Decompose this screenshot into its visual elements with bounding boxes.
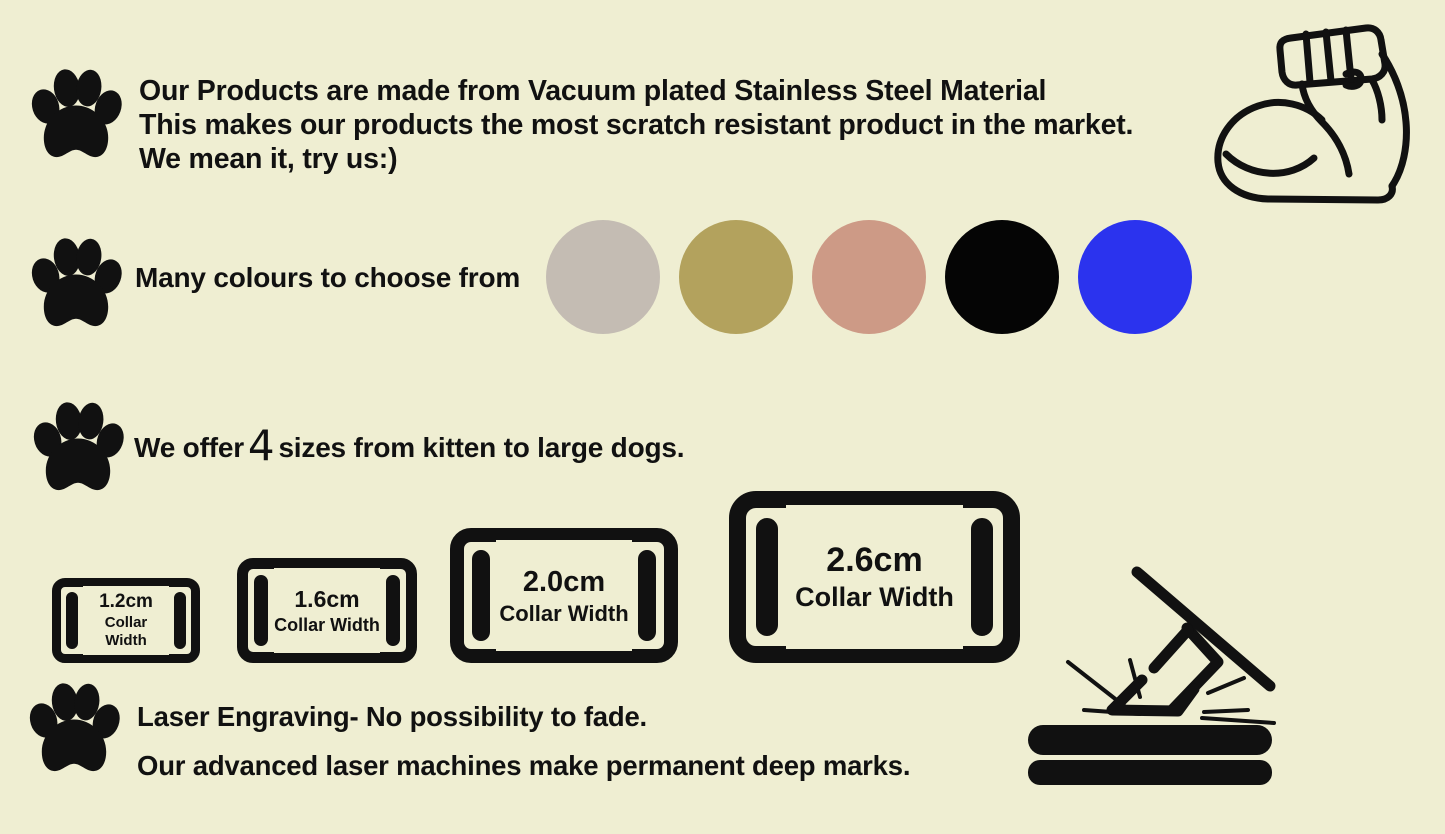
laser-engraver-icon bbox=[1012, 562, 1302, 797]
collar-size-1-value: 1.2cm bbox=[99, 590, 153, 614]
paw-print-icon bbox=[32, 395, 124, 495]
sizes-heading: We offer 4 sizes from kitten to large do… bbox=[134, 426, 684, 464]
collar-size-3-caption: Collar Width bbox=[499, 600, 628, 628]
material-line-3: We mean it, try us:) bbox=[139, 142, 1133, 176]
product-infographic: Our Products are made from Vacuum plated… bbox=[0, 0, 1445, 834]
laser-line-2: Our advanced laser machines make permane… bbox=[137, 741, 910, 790]
collar-size-diagram-row: 1.2cm Collar Width 1.6cm Collar Width bbox=[52, 488, 1032, 663]
colour-swatch-silver[interactable] bbox=[546, 220, 660, 334]
collar-size-4[interactable]: 2.6cm Collar Width bbox=[729, 491, 1020, 663]
paw-print-icon bbox=[28, 676, 120, 776]
collar-size-4-value: 2.6cm bbox=[826, 539, 922, 582]
collar-size-2-value: 1.6cm bbox=[294, 585, 359, 614]
colours-label: Many colours to choose from bbox=[135, 262, 520, 294]
sizes-heading-prefix: We offer bbox=[134, 432, 244, 464]
flexed-bicep-icon bbox=[1196, 14, 1432, 204]
colour-swatch-black[interactable] bbox=[945, 220, 1059, 334]
colour-swatch-row bbox=[546, 217, 1192, 337]
sizes-count: 4 bbox=[244, 429, 279, 463]
sizes-heading-suffix: sizes from kitten to large dogs. bbox=[278, 432, 684, 464]
material-line-2: This makes our products the most scratch… bbox=[139, 108, 1133, 142]
collar-size-2[interactable]: 1.6cm Collar Width bbox=[237, 558, 417, 663]
collar-size-1[interactable]: 1.2cm Collar Width bbox=[52, 578, 200, 663]
collar-size-4-caption: Collar Width bbox=[795, 581, 954, 615]
laser-engraving-text: Laser Engraving- No possibility to fade.… bbox=[137, 692, 910, 790]
collar-size-3-value: 2.0cm bbox=[523, 564, 605, 600]
collar-size-1-caption: Collar Width bbox=[83, 614, 169, 652]
laser-line-1: Laser Engraving- No possibility to fade. bbox=[137, 692, 910, 741]
colour-swatch-gold[interactable] bbox=[679, 220, 793, 334]
colour-swatch-rose-gold[interactable] bbox=[812, 220, 926, 334]
material-line-1: Our Products are made from Vacuum plated… bbox=[139, 74, 1133, 108]
material-claim-text: Our Products are made from Vacuum plated… bbox=[139, 74, 1133, 176]
collar-size-2-caption: Collar Width bbox=[274, 614, 380, 637]
collar-size-3[interactable]: 2.0cm Collar Width bbox=[450, 528, 678, 663]
paw-print-icon bbox=[30, 231, 122, 331]
paw-print-icon bbox=[30, 62, 122, 162]
colour-swatch-blue[interactable] bbox=[1078, 220, 1192, 334]
